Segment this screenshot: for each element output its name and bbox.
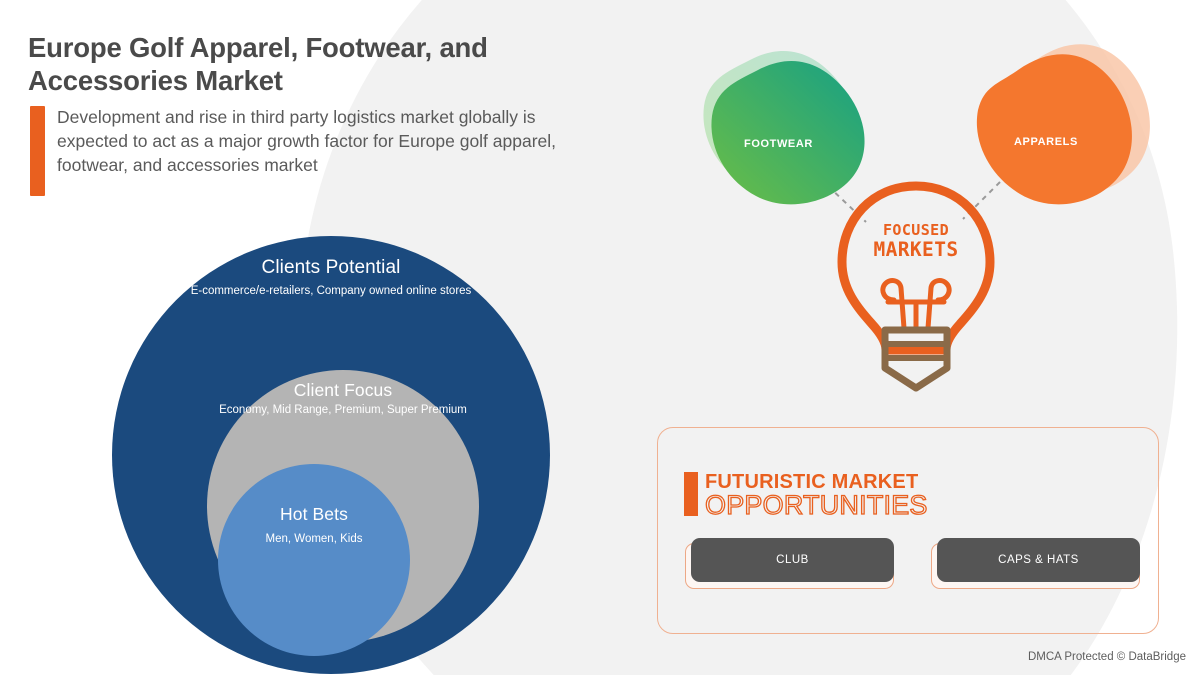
page-title: Europe Golf Apparel, Footwear, and Acces…: [28, 32, 588, 97]
focused-markets-bulb: FOCUSED MARKETS: [828, 178, 1004, 408]
panel-title-line2: OPPORTUNITIES: [705, 492, 928, 520]
button-slot-caps-hats: CAPS & HATS: [931, 538, 1140, 588]
footwear-label: FOOTWEAR: [744, 138, 813, 150]
panel-accent-bar: [684, 472, 698, 516]
subtitle-accent-bar: [30, 106, 45, 196]
panel-title-lines: FUTURISTIC MARKET OPPORTUNITIES: [705, 472, 928, 520]
subtitle-block: Development and rise in third party logi…: [30, 106, 575, 196]
futuristic-market-opportunities-panel: FUTURISTIC MARKET OPPORTUNITIES CLUB CAP…: [657, 427, 1159, 634]
circle-hot-bets-body: Men, Women, Kids: [218, 532, 410, 547]
circle-hot-bets-labels: Hot Bets Men, Women, Kids: [218, 504, 410, 547]
footer-credit: DMCA Protected © DataBridge: [1028, 651, 1186, 663]
apparels-label: APPARELS: [1014, 136, 1078, 148]
circle-clients-potential-body: E-commerce/e-retailers, Company owned on…: [112, 284, 550, 299]
circle-clients-potential-heading: Clients Potential: [112, 256, 550, 280]
caps-hats-button[interactable]: CAPS & HATS: [937, 538, 1140, 582]
circle-client-focus-body: Economy, Mid Range, Premium, Super Premi…: [207, 403, 479, 418]
subtitle-text: Development and rise in third party logi…: [57, 106, 575, 177]
bulb-text-focused: FOCUSED: [828, 221, 1004, 239]
opportunity-buttons-row: CLUB CAPS & HATS: [685, 538, 1140, 588]
bulb-text-markets: MARKETS: [828, 238, 1004, 261]
circle-client-focus-heading: Client Focus: [207, 380, 479, 402]
button-slot-club: CLUB: [685, 538, 894, 588]
panel-title-line1: FUTURISTIC MARKET: [705, 472, 928, 492]
panel-heading-block: FUTURISTIC MARKET OPPORTUNITIES: [684, 472, 928, 520]
infographic-canvas: Europe Golf Apparel, Footwear, and Acces…: [0, 0, 1200, 675]
circle-hot-bets-heading: Hot Bets: [218, 504, 410, 526]
circle-clients-potential-labels: Clients Potential E-commerce/e-retailers…: [112, 256, 550, 299]
club-button[interactable]: CLUB: [691, 538, 894, 582]
circle-hot-bets: Hot Bets Men, Women, Kids: [218, 464, 410, 656]
bulb-icon: [828, 178, 1004, 408]
concentric-circles-diagram: Clients Potential E-commerce/e-retailers…: [112, 236, 550, 674]
circle-client-focus-labels: Client Focus Economy, Mid Range, Premium…: [207, 380, 479, 418]
